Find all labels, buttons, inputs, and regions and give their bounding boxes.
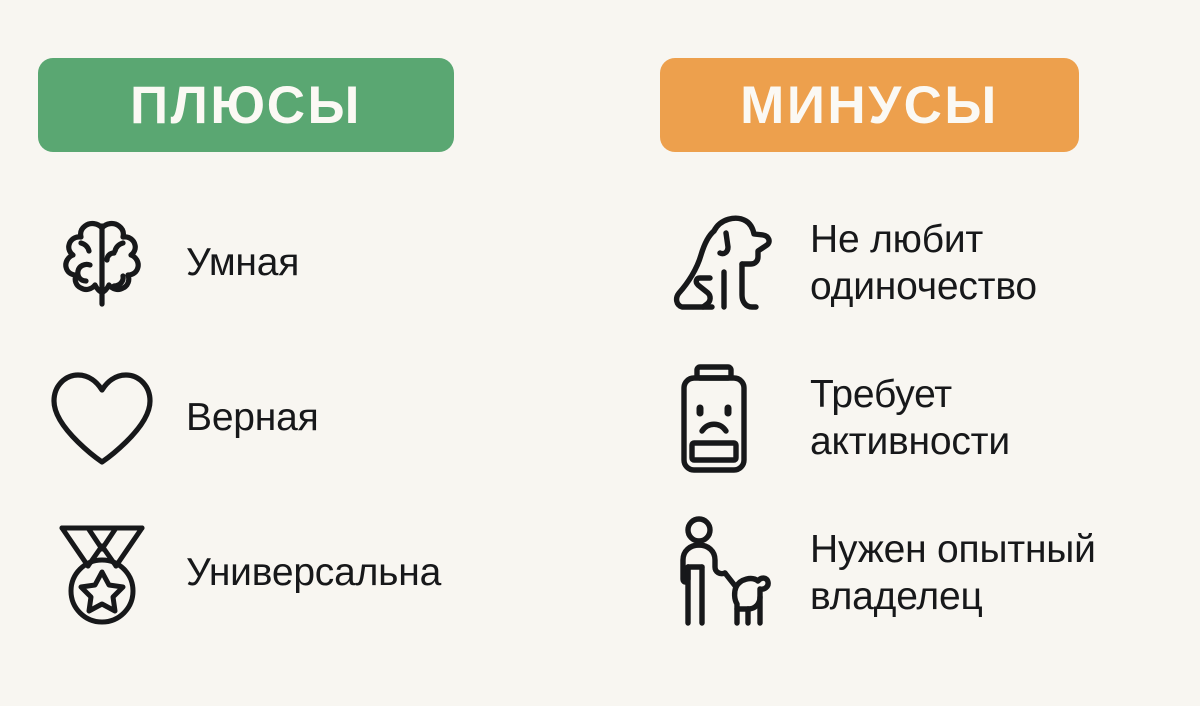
list-item: Верная [38,341,598,496]
list-item-label: Верная [166,395,319,441]
list-item-label: Нужен опытный владелец [788,527,1096,619]
sitting-dog-icon [660,202,788,326]
list-item: Умная [38,186,598,341]
cons-header-label: МИНУСЫ [740,79,999,132]
cons-item-list: Не любит одиночество Требует активности [660,186,1180,651]
list-item-label: Универсальна [166,550,441,596]
brain-icon [38,202,166,326]
list-item-label: Требует активности [788,372,1010,464]
pros-header-label: ПЛЮСЫ [130,79,362,132]
list-item: Требует активности [660,341,1180,496]
pros-header-pill: ПЛЮСЫ [38,58,454,152]
cons-column: МИНУСЫ Не любит одиночество [660,0,1180,706]
pros-item-list: Умная Верная [38,186,598,651]
list-item: Не любит одиночество [660,186,1180,341]
list-item-label: Умная [166,240,299,286]
heart-icon [38,357,166,481]
pros-column: ПЛЮСЫ Умная [38,0,598,706]
pros-cons-board: ПЛЮСЫ Умная [0,0,1200,706]
list-item: Нужен опытный владелец [660,496,1180,651]
person-walking-dog-icon [660,512,788,636]
cons-header-pill: МИНУСЫ [660,58,1079,152]
list-item: Универсальна [38,496,598,651]
medal-icon [38,512,166,636]
list-item-label: Не любит одиночество [788,217,1037,309]
low-battery-sad-face-icon [660,357,788,481]
